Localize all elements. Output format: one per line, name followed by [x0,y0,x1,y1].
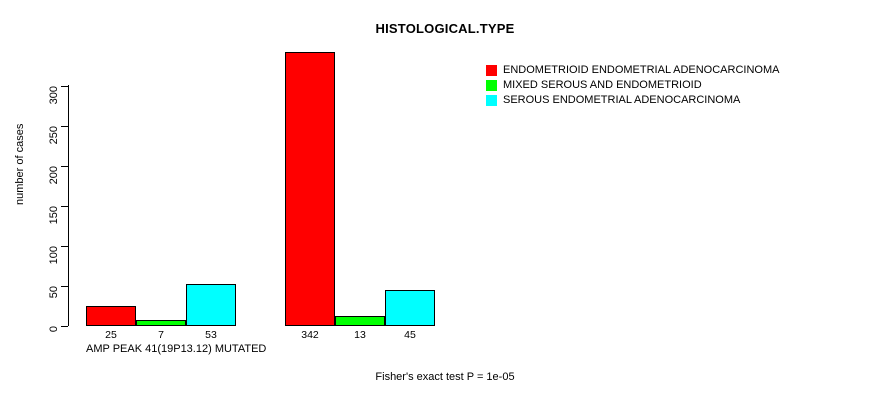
bar-value-label: 342 [285,329,335,341]
y-axis-tick-label-text: 200 [48,166,60,184]
legend-label: ENDOMETRIOID ENDOMETRIAL ADENOCARCINOMA [503,64,779,77]
y-axis-tick-label-text: 100 [48,246,60,264]
y-axis-tick [61,326,68,327]
bar [136,320,186,326]
bar [335,316,385,326]
bar-value-label: 53 [186,329,236,341]
bar-value-label: 25 [86,329,136,341]
legend-label: SEROUS ENDOMETRIAL ADENOCARCINOMA [503,94,740,107]
y-axis-tick [61,86,68,87]
y-axis-title: number of cases [14,124,26,205]
group-axis-label: AMP PEAK 41(19P13.12) MUTATED [86,343,236,355]
y-axis-tick-label-text: 150 [48,206,60,224]
bar [285,52,335,326]
bar-chart: HISTOLOGICAL.TYPE 050100150200250300 num… [0,0,890,400]
bar [86,306,136,326]
y-axis-tick-label-text: 250 [48,126,60,144]
y-axis-tick [61,246,68,247]
y-axis-line [68,85,69,326]
bar [385,290,435,326]
legend-swatch-icon [486,95,497,106]
legend-swatch-icon [486,65,497,76]
bar [186,284,236,326]
legend-swatch-icon [486,80,497,91]
y-axis-tick-label-text: 300 [48,86,60,104]
y-axis-tick [61,166,68,167]
chart-caption: Fisher's exact test P = 1e-05 [0,371,890,383]
bar-value-label: 13 [335,329,385,341]
y-axis-tick [61,126,68,127]
y-axis-tick [61,206,68,207]
y-axis-tick-label-text: 50 [48,286,60,298]
bar-value-label: 7 [136,329,186,341]
legend-label: MIXED SEROUS AND ENDOMETRIOID [503,79,702,92]
bar-value-label: 45 [385,329,435,341]
y-axis-tick-label-text: 0 [48,326,60,332]
y-axis-tick [61,286,68,287]
chart-title: HISTOLOGICAL.TYPE [0,21,890,36]
